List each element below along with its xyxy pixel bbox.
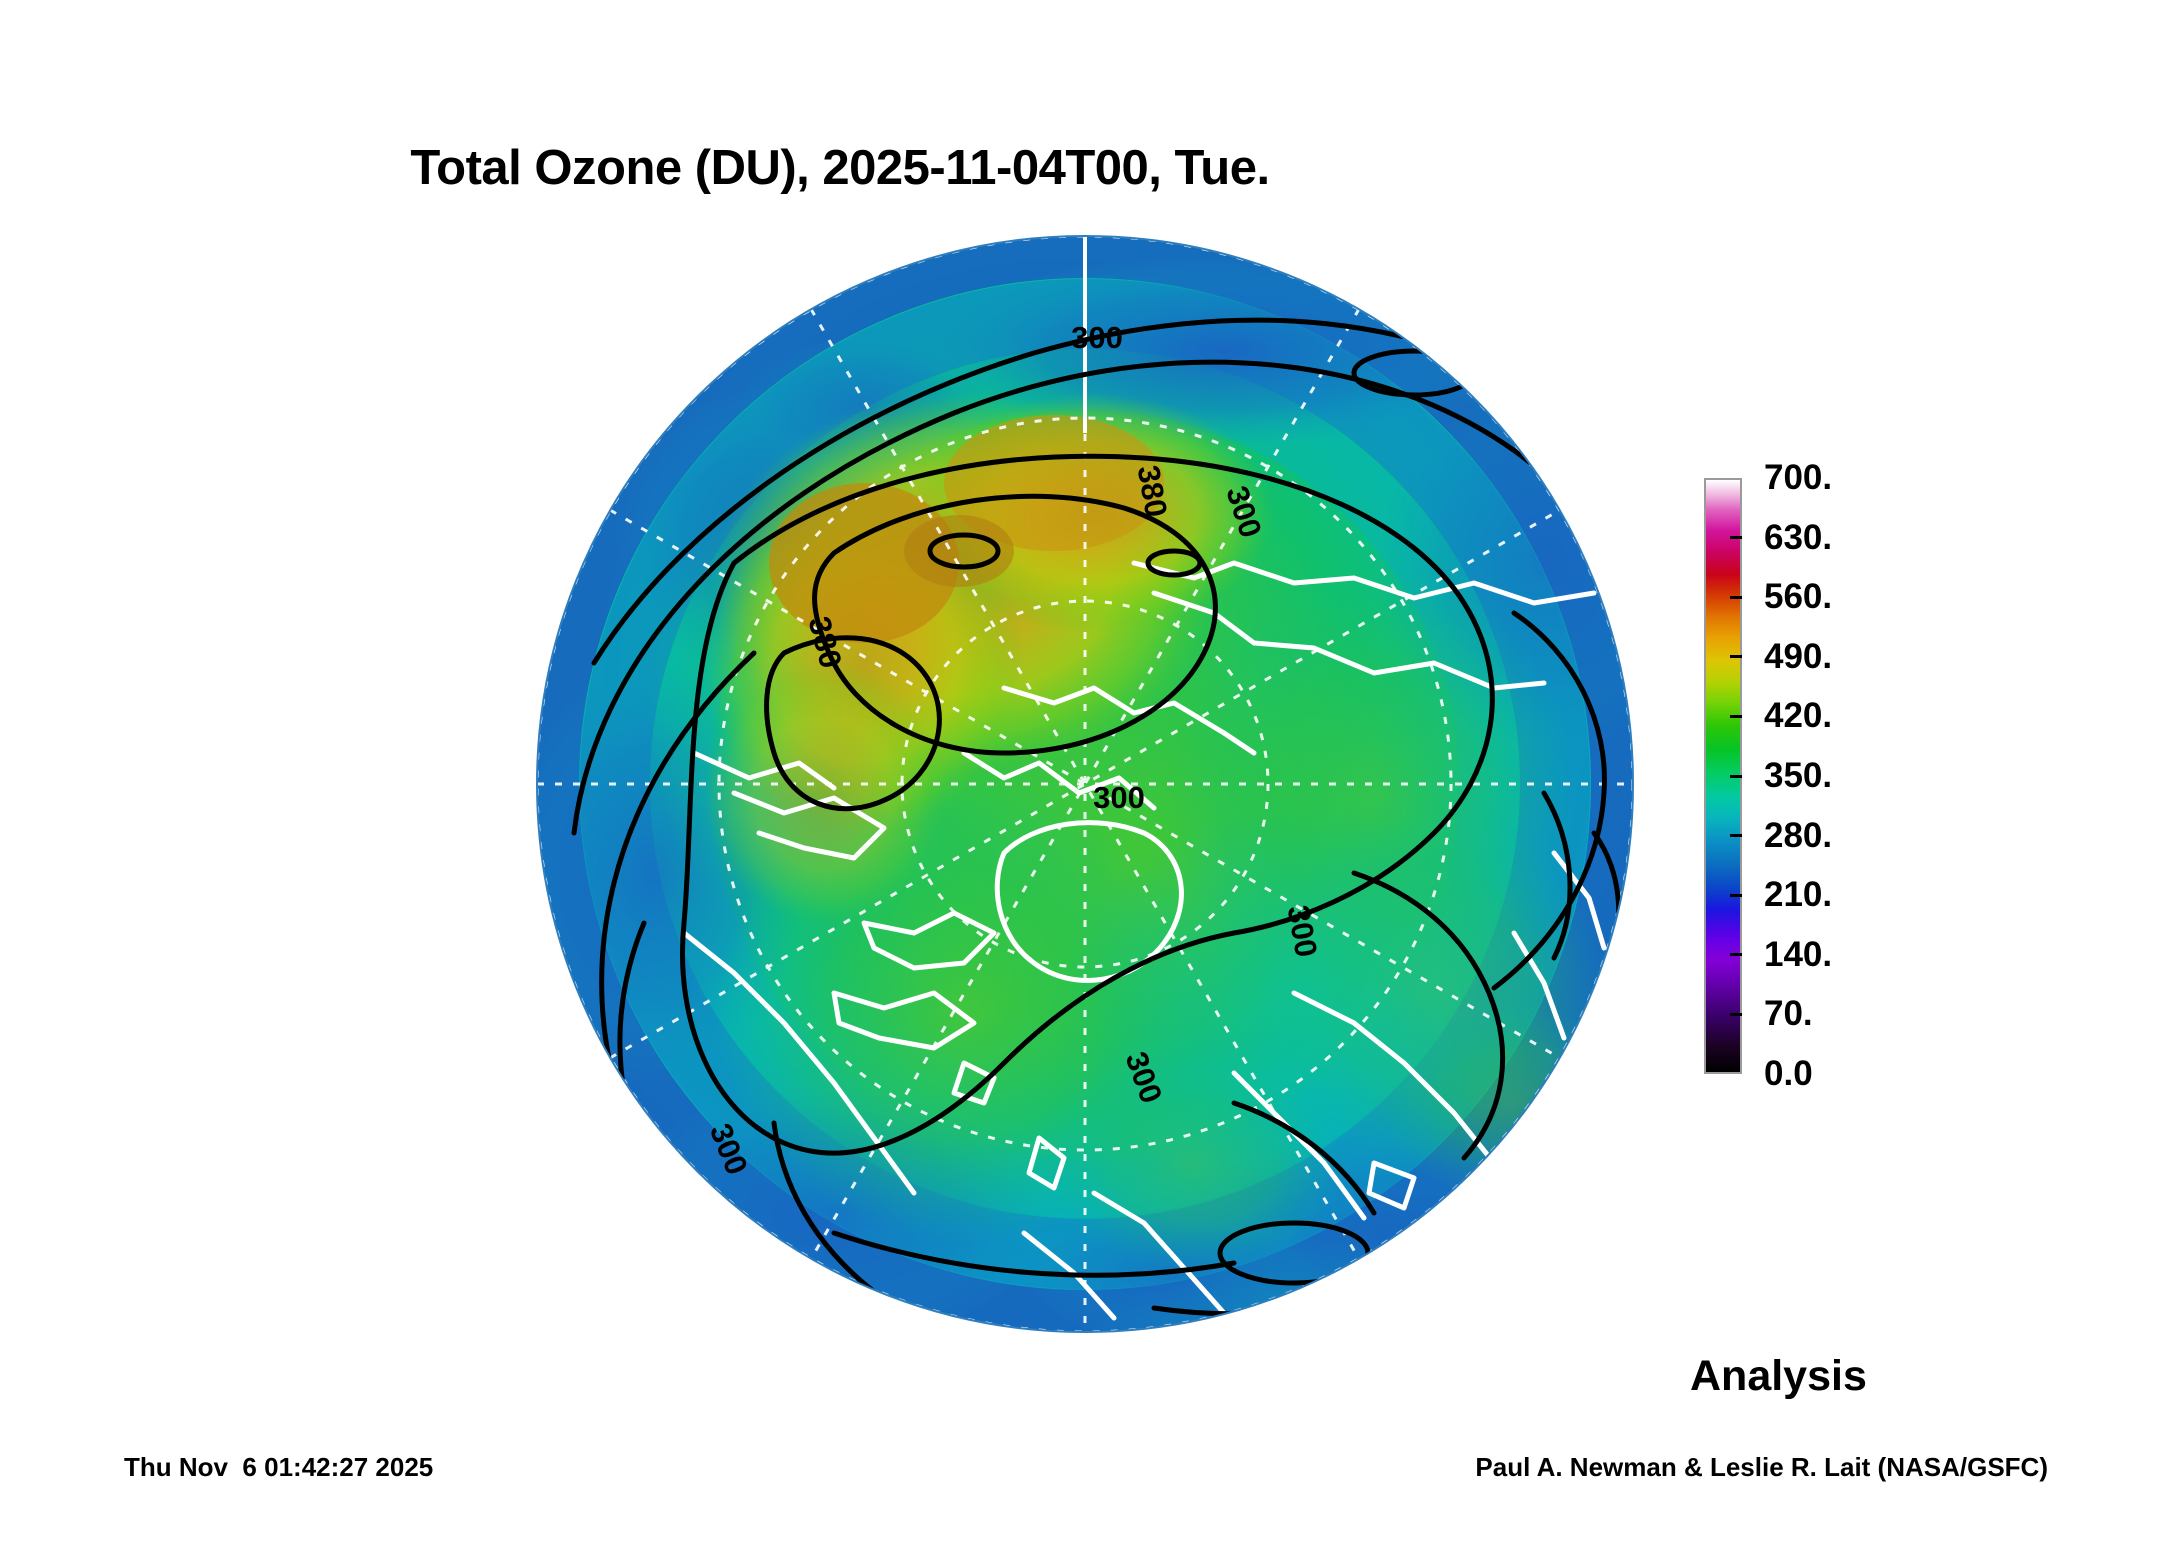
- colorbar-tick-label: 700.: [1764, 460, 1832, 495]
- contour-label: 300: [1093, 780, 1145, 815]
- colorbar-tick-label: 70.: [1764, 996, 1813, 1031]
- colorbar-tick-label: 490.: [1764, 639, 1832, 674]
- colorbar-tick: [1730, 953, 1742, 956]
- colorbar-tick: [1730, 834, 1742, 837]
- colorbar-tick-label: 560.: [1764, 579, 1832, 614]
- page-title: Total Ozone (DU), 2025-11-04T00, Tue.: [0, 140, 1680, 196]
- colorbar-tick-label: 420.: [1764, 698, 1832, 733]
- colorbar-tick-label: 0.0: [1764, 1056, 1813, 1091]
- colorbar-tick-label: 280.: [1764, 818, 1832, 853]
- colorbar-tick: [1730, 894, 1742, 897]
- globe-plot: 3003003803803803803003003003003003003003…: [534, 233, 1636, 1335]
- colorbar-tick: [1730, 596, 1742, 599]
- colorbar-tick: [1730, 715, 1742, 718]
- colorbar-tick-label: 630.: [1764, 520, 1832, 555]
- ozone-map-panel: 3003003803803803803003003003003003003003…: [534, 233, 1636, 1335]
- colorbar-tick: [1730, 536, 1742, 539]
- colorbar-tick: [1730, 655, 1742, 658]
- contour-label: 300: [1071, 320, 1123, 355]
- colorbar-tick: [1730, 1013, 1742, 1016]
- colorbar: 700.630.560.490.420.350.280.210.140.70.0…: [1700, 470, 1960, 1090]
- footer-timestamp: Thu Nov 6 01:42:27 2025: [124, 1452, 433, 1483]
- footer-credit: Paul A. Newman & Leslie R. Lait (NASA/GS…: [1475, 1452, 2048, 1483]
- analysis-label: Analysis: [1690, 1352, 1867, 1401]
- colorbar-tick-label: 350.: [1764, 758, 1832, 793]
- colorbar-tick: [1730, 775, 1742, 778]
- colorbar-tick-label: 210.: [1764, 877, 1832, 912]
- colorbar-tick-label: 140.: [1764, 937, 1832, 972]
